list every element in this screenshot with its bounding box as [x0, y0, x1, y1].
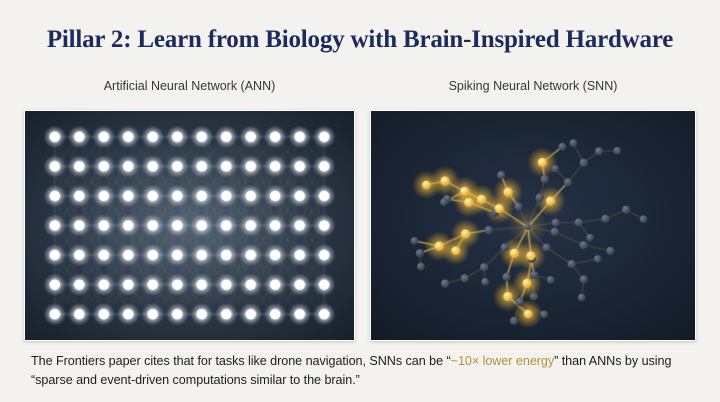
caption-highlight-1: ~10× lower	[451, 354, 513, 368]
snn-network-graphic	[371, 111, 695, 340]
caption-text: The Frontiers paper cites that for tasks…	[31, 352, 693, 390]
ann-network-graphic	[25, 111, 354, 340]
ann-panel-caption: Artificial Neural Network (ANN)	[24, 79, 355, 93]
page-title: Pillar 2: Learn from Biology with Brain-…	[0, 26, 720, 54]
snn-diagram-panel	[370, 110, 696, 341]
caption-highlight-2: energy	[516, 354, 554, 368]
snn-panel-caption: Spiking Neural Network (SNN)	[370, 79, 696, 93]
caption-part-1: The Frontiers paper cites that for tasks…	[31, 354, 451, 368]
ann-diagram-panel	[24, 110, 355, 341]
slide-canvas: Pillar 2: Learn from Biology with Brain-…	[0, 0, 720, 402]
